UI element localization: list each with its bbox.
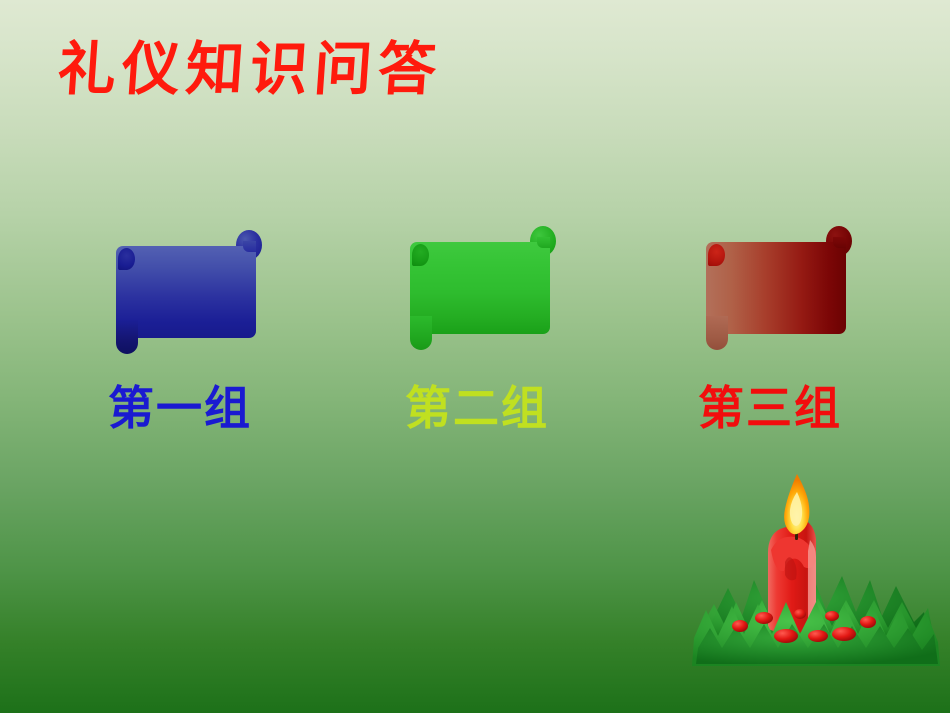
scroll-tab-bottom-left (706, 316, 728, 350)
scroll-curl-notch (243, 241, 256, 252)
scroll-curl-notch (833, 237, 846, 248)
group-banner-2[interactable] (406, 224, 558, 352)
scroll-curl-top-left-icon (118, 248, 135, 270)
presentation-slide: 礼仪知识问答 第一组 第二组 第三组 (0, 0, 950, 713)
scroll-curl-top-left-icon (708, 244, 725, 266)
group-banner-3[interactable] (702, 224, 854, 352)
page-title: 礼仪知识问答 (56, 36, 445, 102)
scroll-curl-top-left-icon (412, 244, 429, 266)
group-label-1: 第一组 (108, 383, 252, 433)
group-label-3: 第三组 (698, 383, 842, 433)
scroll-tab-bottom-left (116, 320, 138, 354)
group-label-2: 第二组 (405, 383, 549, 433)
candle-wreath-image (692, 470, 942, 670)
scroll-tab-bottom-left (410, 316, 432, 350)
candle-flame-icon (784, 474, 809, 534)
candle-wreath-graphic (692, 470, 942, 670)
scroll-curl-notch (537, 237, 550, 248)
group-banner-1[interactable] (112, 228, 264, 356)
